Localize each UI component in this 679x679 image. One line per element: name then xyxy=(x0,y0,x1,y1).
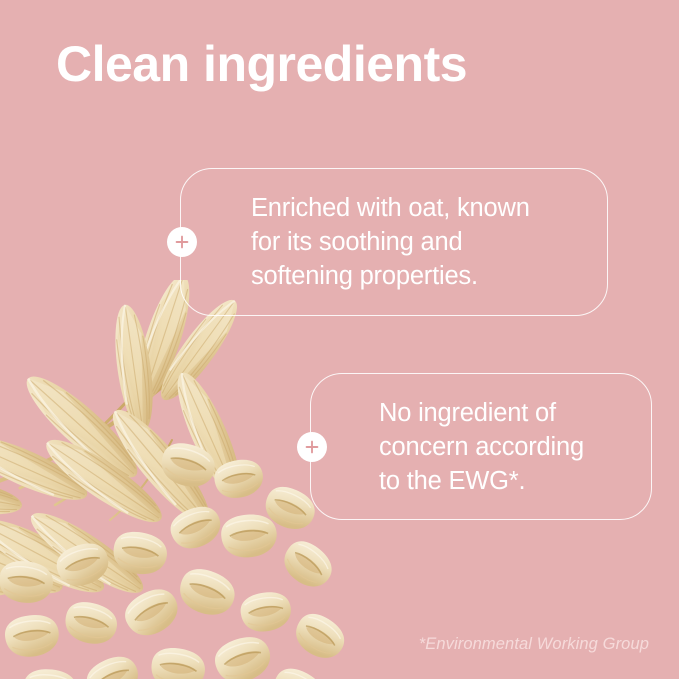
benefit-text: No ingredient of concern according to th… xyxy=(311,396,584,498)
benefit-text: Enriched with oat, known for its soothin… xyxy=(181,191,530,293)
benefit-card: No ingredient of concern according to th… xyxy=(310,373,652,520)
page-title: Clean ingredients xyxy=(56,36,467,94)
marketing-infographic: Clean ingredients Enriched with oat, kno… xyxy=(0,0,679,679)
plus-icon xyxy=(297,432,327,462)
plus-icon xyxy=(167,227,197,257)
footnote: *Environmental Working Group xyxy=(419,635,649,654)
benefit-card: Enriched with oat, known for its soothin… xyxy=(180,168,608,316)
